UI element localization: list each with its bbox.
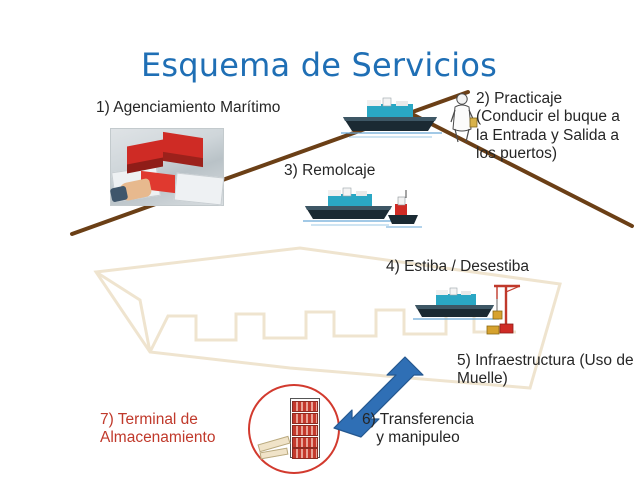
label-terminal-almacenamiento: 7) Terminal de Almacenamiento (100, 411, 250, 448)
clipart-layer (0, 0, 638, 479)
label-infraestructura: 5) Infraestructura (Uso de Muelle) (457, 352, 637, 389)
remolcaje-ship-image (303, 188, 398, 225)
practicaje-ship-image (341, 98, 442, 137)
label-estiba-desestiba: 4) Estiba / Desestiba (386, 258, 529, 276)
pilot-person-icon (451, 94, 477, 142)
label-agenciamiento-maritimo: 1) Agenciamiento Marítimo (96, 99, 280, 117)
label-remolcaje: 3) Remolcaje (284, 162, 375, 180)
estiba-ship-image (413, 288, 499, 319)
label-practicaje: 2) Practicaje (Conducir el buque a la En… (476, 90, 631, 163)
tugboat-image (386, 190, 422, 227)
label-transferencia-manipuleo: 6) Transferencia y manipuleo (362, 411, 474, 448)
crane-icon (487, 286, 520, 334)
slide-canvas: Esquema de Servicios (0, 0, 638, 479)
